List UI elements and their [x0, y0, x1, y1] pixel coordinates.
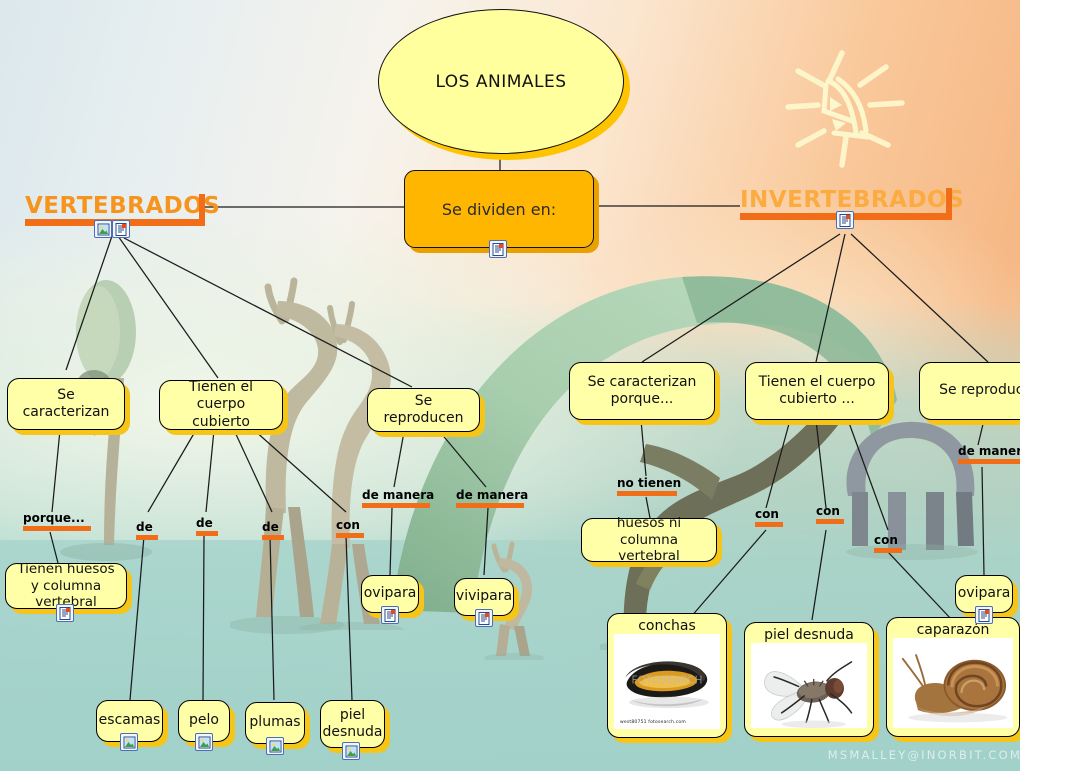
connector-text: con	[336, 519, 364, 532]
document-icon[interactable]	[475, 609, 493, 627]
document-icon[interactable]	[975, 606, 993, 624]
root-node-label: LOS ANIMALES	[435, 72, 566, 92]
node-huesos-ni-columna[interactable]: huesos ni columna vertebral	[581, 518, 717, 562]
node-se-dividen-en-label: Se dividen en:	[442, 200, 556, 219]
node-label: escamas	[99, 712, 161, 729]
connector-label-de-2: de	[196, 517, 218, 536]
node-inv-se-caracterizan-porque[interactable]: Se caracterizan porque...	[569, 362, 715, 420]
connector-underline	[196, 531, 218, 536]
connector-underline	[456, 503, 524, 508]
node-vert-se-reproducen[interactable]: Se reproducen	[367, 388, 480, 432]
node-piel-desnuda-vert[interactable]: piel desnuda	[320, 700, 385, 748]
picture-card-caption: conchas	[608, 618, 726, 634]
node-label: piel desnuda	[323, 707, 383, 741]
node-label: Se reproducen	[376, 393, 471, 427]
root-node-los-animales[interactable]: LOS ANIMALES	[378, 9, 624, 154]
image-icon[interactable]	[342, 742, 360, 760]
connector-text: con	[755, 508, 783, 521]
node-vert-se-caracterizan[interactable]: Se caracterizan	[7, 378, 125, 430]
connector-text: no tienen	[617, 477, 677, 490]
connector-underline	[617, 491, 677, 496]
image-icon[interactable]	[94, 220, 112, 238]
node-label: Tienen el cuerpo cubierto	[168, 379, 274, 430]
node-label: Se caracterizan	[16, 387, 116, 421]
heading-vertebrados-label: VERTEBRADOS	[25, 194, 205, 218]
connector-underline	[262, 535, 284, 540]
document-icon[interactable]	[381, 606, 399, 624]
node-label: huesos ni columna vertebral	[590, 515, 708, 564]
right-white-margin	[1020, 0, 1070, 771]
node-label: Tienen el cuerpo cubierto ...	[754, 374, 880, 408]
node-se-dividen-en[interactable]: Se dividen en:	[404, 170, 594, 248]
connector-label-con-inv-2: con	[816, 505, 844, 524]
connector-label-con-inv-1: con	[755, 508, 783, 527]
connector-label-con-inv-3: con	[874, 534, 902, 553]
picture-card-conchas[interactable]: conchas FOTOSEARCH west80751 fotosearch.…	[607, 613, 727, 738]
image-icon[interactable]	[195, 733, 213, 751]
connector-text: con	[816, 505, 844, 518]
watermark: MSMALLEY@INORBIT.COM	[828, 748, 1022, 762]
connector-text: de	[136, 521, 158, 534]
picture-card-caparazon[interactable]: caparazón	[886, 617, 1020, 737]
connector-text: de	[262, 521, 284, 534]
concept-map-canvas: LOS ANIMALES Se dividen en: VERTEBRADOS …	[0, 0, 1070, 771]
housefly-photo	[751, 643, 867, 728]
connector-label-de-1: de	[136, 521, 158, 540]
connector-underline	[336, 533, 364, 538]
connector-label-porque: porque...	[23, 512, 91, 531]
picture-card-piel-desnuda[interactable]: piel desnuda	[744, 622, 874, 737]
connector-underline	[874, 548, 902, 553]
connector-label-de-manera-1: de manera	[362, 489, 430, 508]
image-icon[interactable]	[266, 737, 284, 755]
connector-underline	[755, 522, 783, 527]
connector-text: de manera	[362, 489, 430, 502]
document-icon[interactable]	[489, 240, 507, 258]
node-label: Se caracterizan porque...	[578, 374, 706, 408]
mussel-shell-photo: FOTOSEARCH west80751 fotosearch.com	[614, 634, 720, 729]
svg-text:FOTOSEARCH: FOTOSEARCH	[631, 674, 702, 686]
connector-text: de	[196, 517, 218, 530]
connector-underline	[136, 535, 158, 540]
connector-underline	[23, 526, 91, 531]
document-icon[interactable]	[836, 211, 854, 229]
node-label: vivipara	[456, 588, 512, 605]
connector-label-de-manera-2: de manera	[456, 489, 524, 508]
node-label: pelo	[189, 712, 219, 729]
snail-photo	[893, 638, 1013, 728]
connector-underline	[958, 459, 1026, 464]
connector-underline	[816, 519, 844, 524]
connector-text: de manera	[456, 489, 524, 502]
connector-text: de manera	[958, 445, 1026, 458]
connector-label-con-1: con	[336, 519, 364, 538]
connector-label-no-tienen: no tienen	[617, 477, 677, 496]
heading-invertebrados-label: INVERTEBRADOS	[740, 188, 952, 212]
heading-bracket-tick	[946, 188, 952, 214]
node-vert-cuerpo-cubierto[interactable]: Tienen el cuerpo cubierto	[159, 380, 283, 430]
connector-label-de-manera-inv: de manera	[958, 445, 1026, 464]
connector-underline	[362, 503, 430, 508]
document-icon[interactable]	[56, 604, 74, 622]
picture-card-caption: piel desnuda	[745, 627, 873, 643]
node-label: ovipara	[958, 585, 1011, 602]
node-tienen-huesos-columna[interactable]: Tienen huesos y columna vertebral	[5, 563, 127, 609]
connector-text: porque...	[23, 512, 91, 525]
photo-credit: west80751 fotosearch.com	[620, 720, 686, 725]
node-label: plumas	[249, 714, 300, 731]
connector-label-de-3: de	[262, 521, 284, 540]
connector-text: con	[874, 534, 902, 547]
heading-bracket-tick	[199, 194, 205, 220]
node-inv-cuerpo-cubierto[interactable]: Tienen el cuerpo cubierto ...	[745, 362, 889, 420]
image-icon[interactable]	[120, 733, 138, 751]
document-icon[interactable]	[112, 220, 130, 238]
picture-card-caption: caparazón	[887, 622, 1019, 638]
node-label: ovipara	[364, 585, 417, 602]
